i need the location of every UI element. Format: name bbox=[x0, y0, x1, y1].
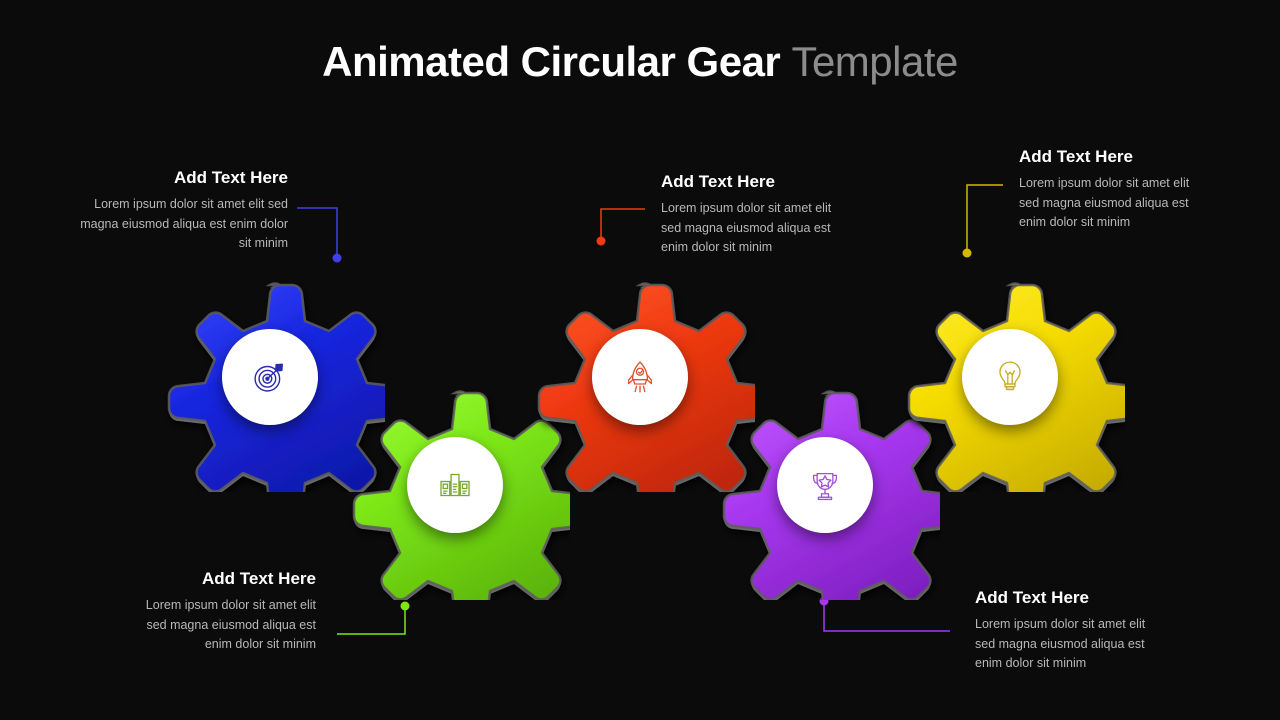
text-block-red: Add Text Here Lorem ipsum dolor sit amet… bbox=[661, 172, 851, 258]
text-block-blue-body: Lorem ipsum dolor sit amet elit sed magn… bbox=[78, 195, 288, 253]
gear-green-hub bbox=[407, 437, 503, 533]
slide-canvas: Animated Circular Gear Template bbox=[0, 0, 1280, 720]
text-block-purple-body: Lorem ipsum dolor sit amet elit sed magn… bbox=[975, 615, 1165, 673]
bar-chart-icon bbox=[434, 464, 476, 506]
text-block-blue: Add Text Here Lorem ipsum dolor sit amet… bbox=[78, 168, 288, 254]
rocket-icon bbox=[619, 356, 661, 398]
text-block-green-body: Lorem ipsum dolor sit amet elit sed magn… bbox=[130, 596, 316, 654]
text-block-green-heading: Add Text Here bbox=[130, 569, 316, 589]
text-block-blue-heading: Add Text Here bbox=[78, 168, 288, 188]
text-block-purple-heading: Add Text Here bbox=[975, 588, 1165, 608]
text-block-yellow: Add Text Here Lorem ipsum dolor sit amet… bbox=[1019, 147, 1204, 233]
text-block-yellow-heading: Add Text Here bbox=[1019, 147, 1204, 167]
target-icon bbox=[249, 356, 291, 398]
text-block-red-body: Lorem ipsum dolor sit amet elit sed magn… bbox=[661, 199, 851, 257]
gear-purple-hub bbox=[777, 437, 873, 533]
gear-red-hub bbox=[592, 329, 688, 425]
gear-yellow-hub bbox=[962, 329, 1058, 425]
text-block-green: Add Text Here Lorem ipsum dolor sit amet… bbox=[130, 569, 316, 655]
trophy-icon bbox=[804, 464, 846, 506]
text-block-red-heading: Add Text Here bbox=[661, 172, 851, 192]
lightbulb-icon bbox=[989, 356, 1031, 398]
text-block-purple: Add Text Here Lorem ipsum dolor sit amet… bbox=[975, 588, 1165, 674]
gear-blue-hub bbox=[222, 329, 318, 425]
text-block-yellow-body: Lorem ipsum dolor sit amet elit sed magn… bbox=[1019, 174, 1204, 232]
gear-yellow[interactable] bbox=[895, 262, 1125, 492]
